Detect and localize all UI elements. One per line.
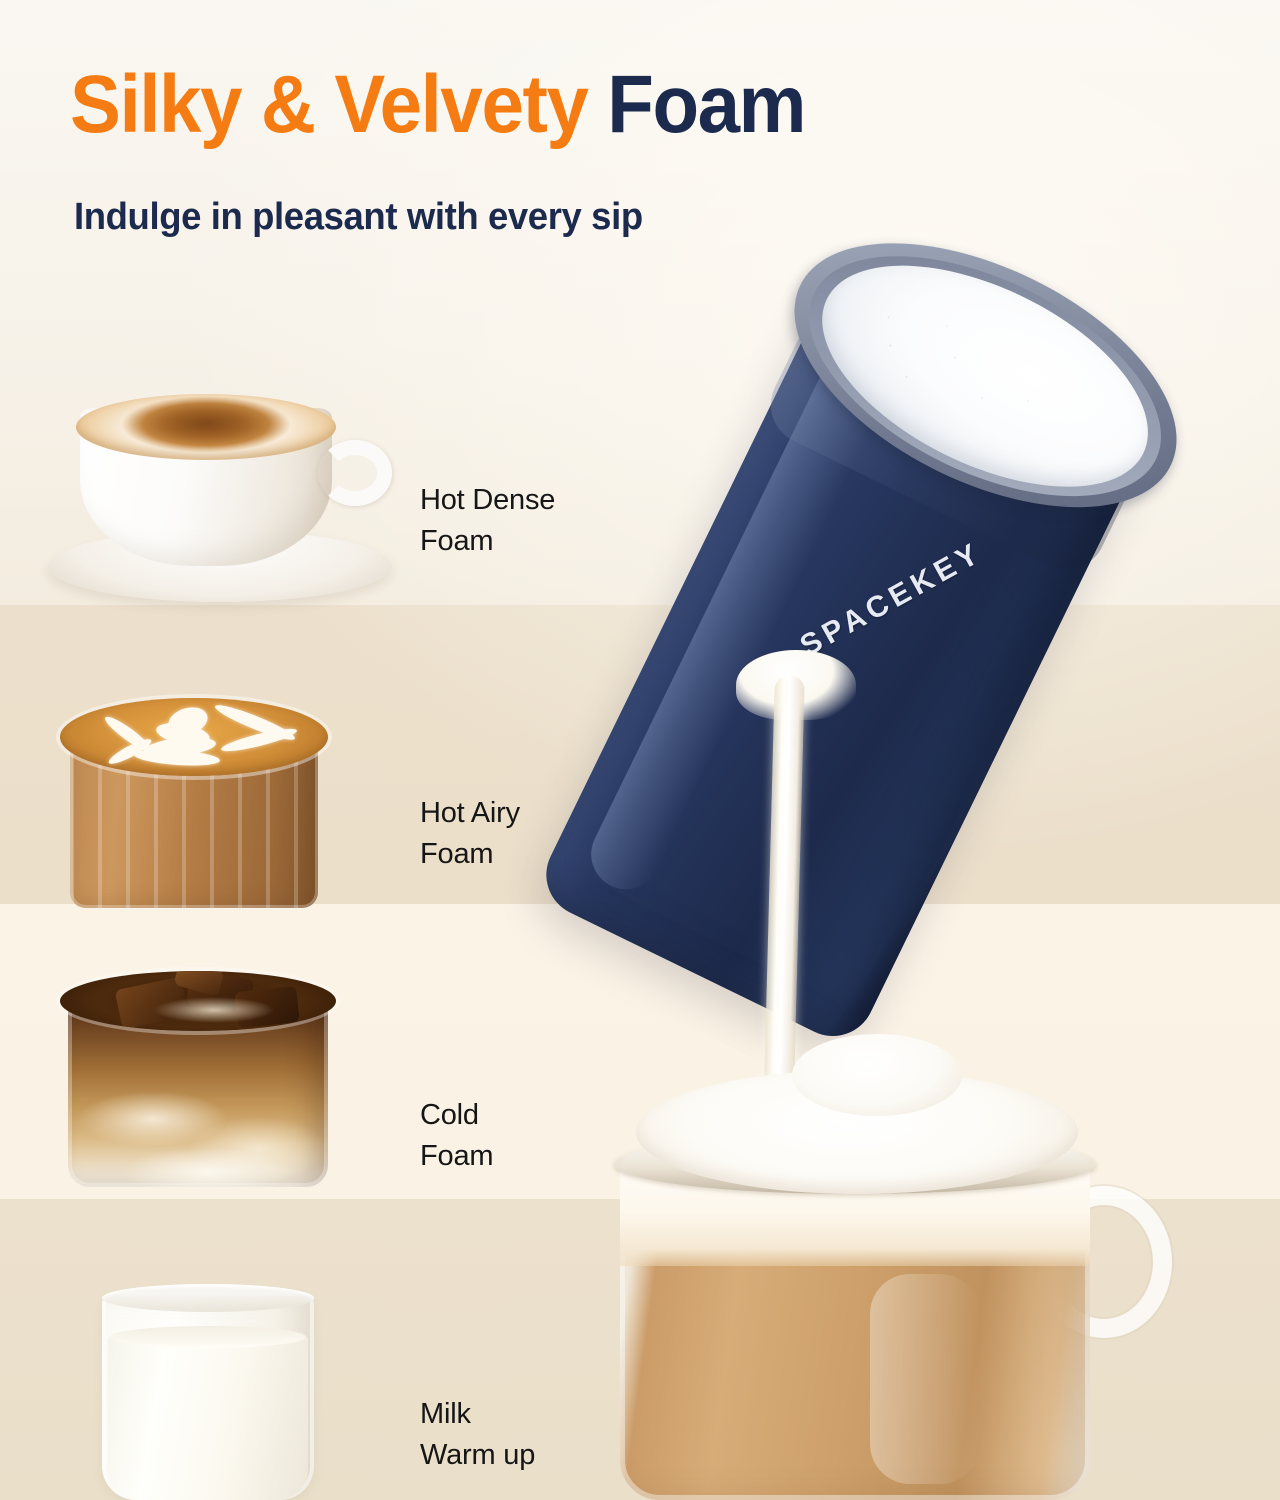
mug-sheen — [870, 1274, 980, 1484]
feature-label-milk-warm-up: Milk Warm up — [420, 1394, 535, 1476]
product-feature-image: Silky & Velvety Foam Indulge in pleasant… — [0, 0, 1280, 1500]
feature-label-line1: Hot Airy — [420, 797, 520, 829]
milk-liquid — [108, 1336, 308, 1500]
cappuccino-cup-image — [40, 372, 400, 610]
cup-handle — [318, 440, 392, 506]
latte-mug-image — [596, 1108, 1156, 1500]
page-subtitle: Indulge in pleasant with every sip — [74, 196, 643, 239]
feature-label-cold-foam: Cold Foam — [420, 1095, 493, 1177]
feature-label-line2: Foam — [420, 521, 555, 562]
feature-label-line2: Warm up — [420, 1435, 535, 1476]
milk-glass-image — [88, 1278, 328, 1500]
feature-label-line1: Milk — [420, 1398, 471, 1430]
crema-foam — [76, 394, 336, 460]
feature-label-hot-dense-foam: Hot Dense Foam — [420, 480, 555, 562]
page-title: Silky & Velvety Foam — [70, 62, 805, 147]
coffee-surface — [60, 971, 336, 1031]
feature-label-line1: Hot Dense — [420, 484, 555, 516]
latte-art-glass-image — [44, 690, 344, 905]
headline-rest: Foam — [607, 59, 805, 150]
mug-foam-peak — [792, 1034, 962, 1116]
feature-label-line2: Foam — [420, 1136, 493, 1177]
rosetta-latte-art — [60, 698, 328, 776]
feature-label-line2: Foam — [420, 834, 520, 875]
milk-surface — [110, 1326, 306, 1348]
glass-rim — [102, 1284, 314, 1312]
feature-label-line1: Cold — [420, 1099, 479, 1131]
iced-coffee-glass-image — [48, 965, 348, 1195]
headline-highlight: Silky & Velvety — [70, 59, 587, 150]
feature-label-hot-airy-foam: Hot Airy Foam — [420, 793, 520, 875]
mug-body — [620, 1154, 1090, 1500]
